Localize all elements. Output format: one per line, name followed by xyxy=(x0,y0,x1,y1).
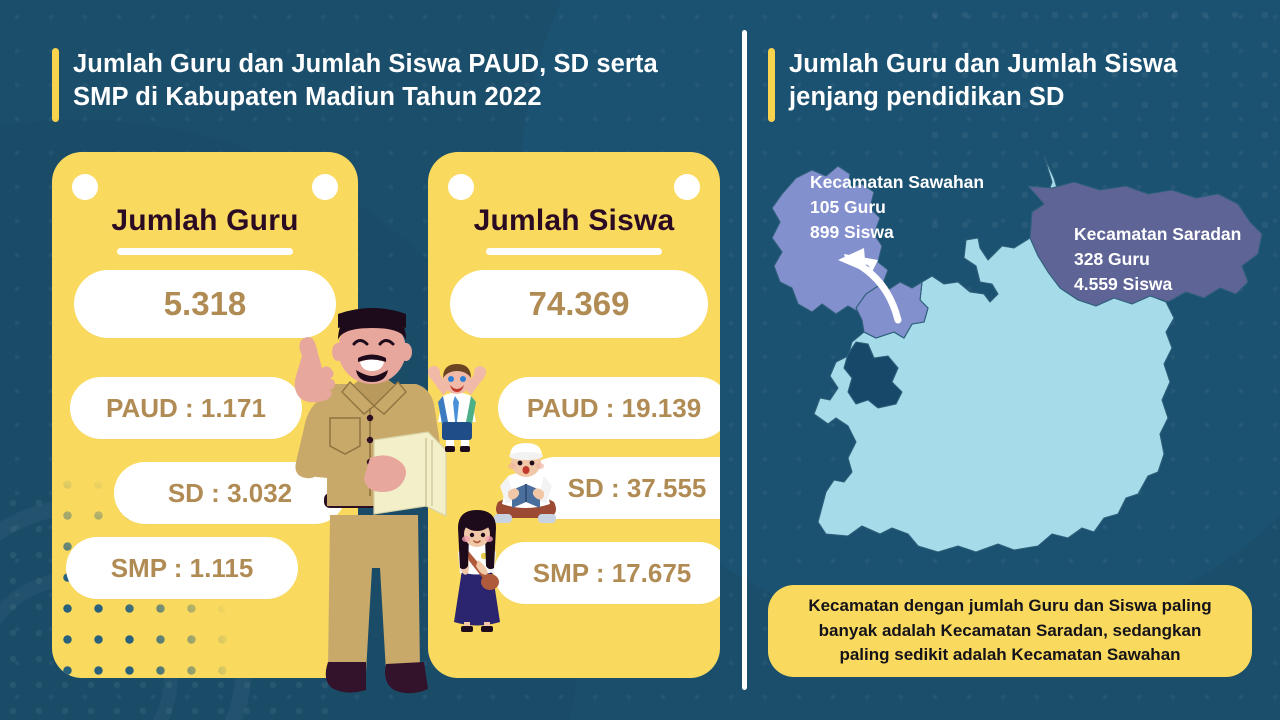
left-title-text: Jumlah Guru dan Jumlah Siswa PAUD, SD se… xyxy=(73,48,658,114)
card-title-siswa: Jumlah Siswa xyxy=(428,204,720,238)
siswa-smp-row: SMP : 17.675 xyxy=(494,542,720,604)
map-label-sawahan: Kecamatan Sawahan 105 Guru 899 Siswa xyxy=(810,170,984,245)
card-punch-hole-right-icon xyxy=(312,174,338,200)
title-accent-bar xyxy=(768,48,775,122)
right-panel-title: Jumlah Guru dan Jumlah Siswa jenjang pen… xyxy=(768,48,1177,122)
siswa-total-value: 74.369 xyxy=(450,270,708,338)
card-title-underline xyxy=(486,248,662,255)
siswa-paud-row: PAUD : 19.139 xyxy=(498,377,720,439)
smp-student-illustration-icon xyxy=(444,508,510,634)
right-title-text: Jumlah Guru dan Jumlah Siswa jenjang pen… xyxy=(789,48,1177,114)
vertical-divider xyxy=(742,30,747,690)
title-accent-bar xyxy=(52,48,59,122)
left-panel-title: Jumlah Guru dan Jumlah Siswa PAUD, SD se… xyxy=(52,48,658,122)
card-punch-hole-left-icon xyxy=(72,174,98,200)
card-punch-hole-right-icon xyxy=(674,174,700,200)
card-title-underline xyxy=(117,248,293,255)
map-label-saradan: Kecamatan Saradan 328 Guru 4.559 Siswa xyxy=(1074,222,1241,297)
paud-student-illustration-icon xyxy=(424,358,490,454)
guru-smp-row: SMP : 1.115 xyxy=(66,537,298,599)
summary-note-box: Kecamatan dengan jumlah Guru dan Siswa p… xyxy=(768,585,1252,677)
infographic-canvas: Jumlah Guru dan Jumlah Siswa PAUD, SD se… xyxy=(0,0,1280,720)
card-title-guru: Jumlah Guru xyxy=(52,204,358,238)
card-punch-hole-left-icon xyxy=(448,174,474,200)
